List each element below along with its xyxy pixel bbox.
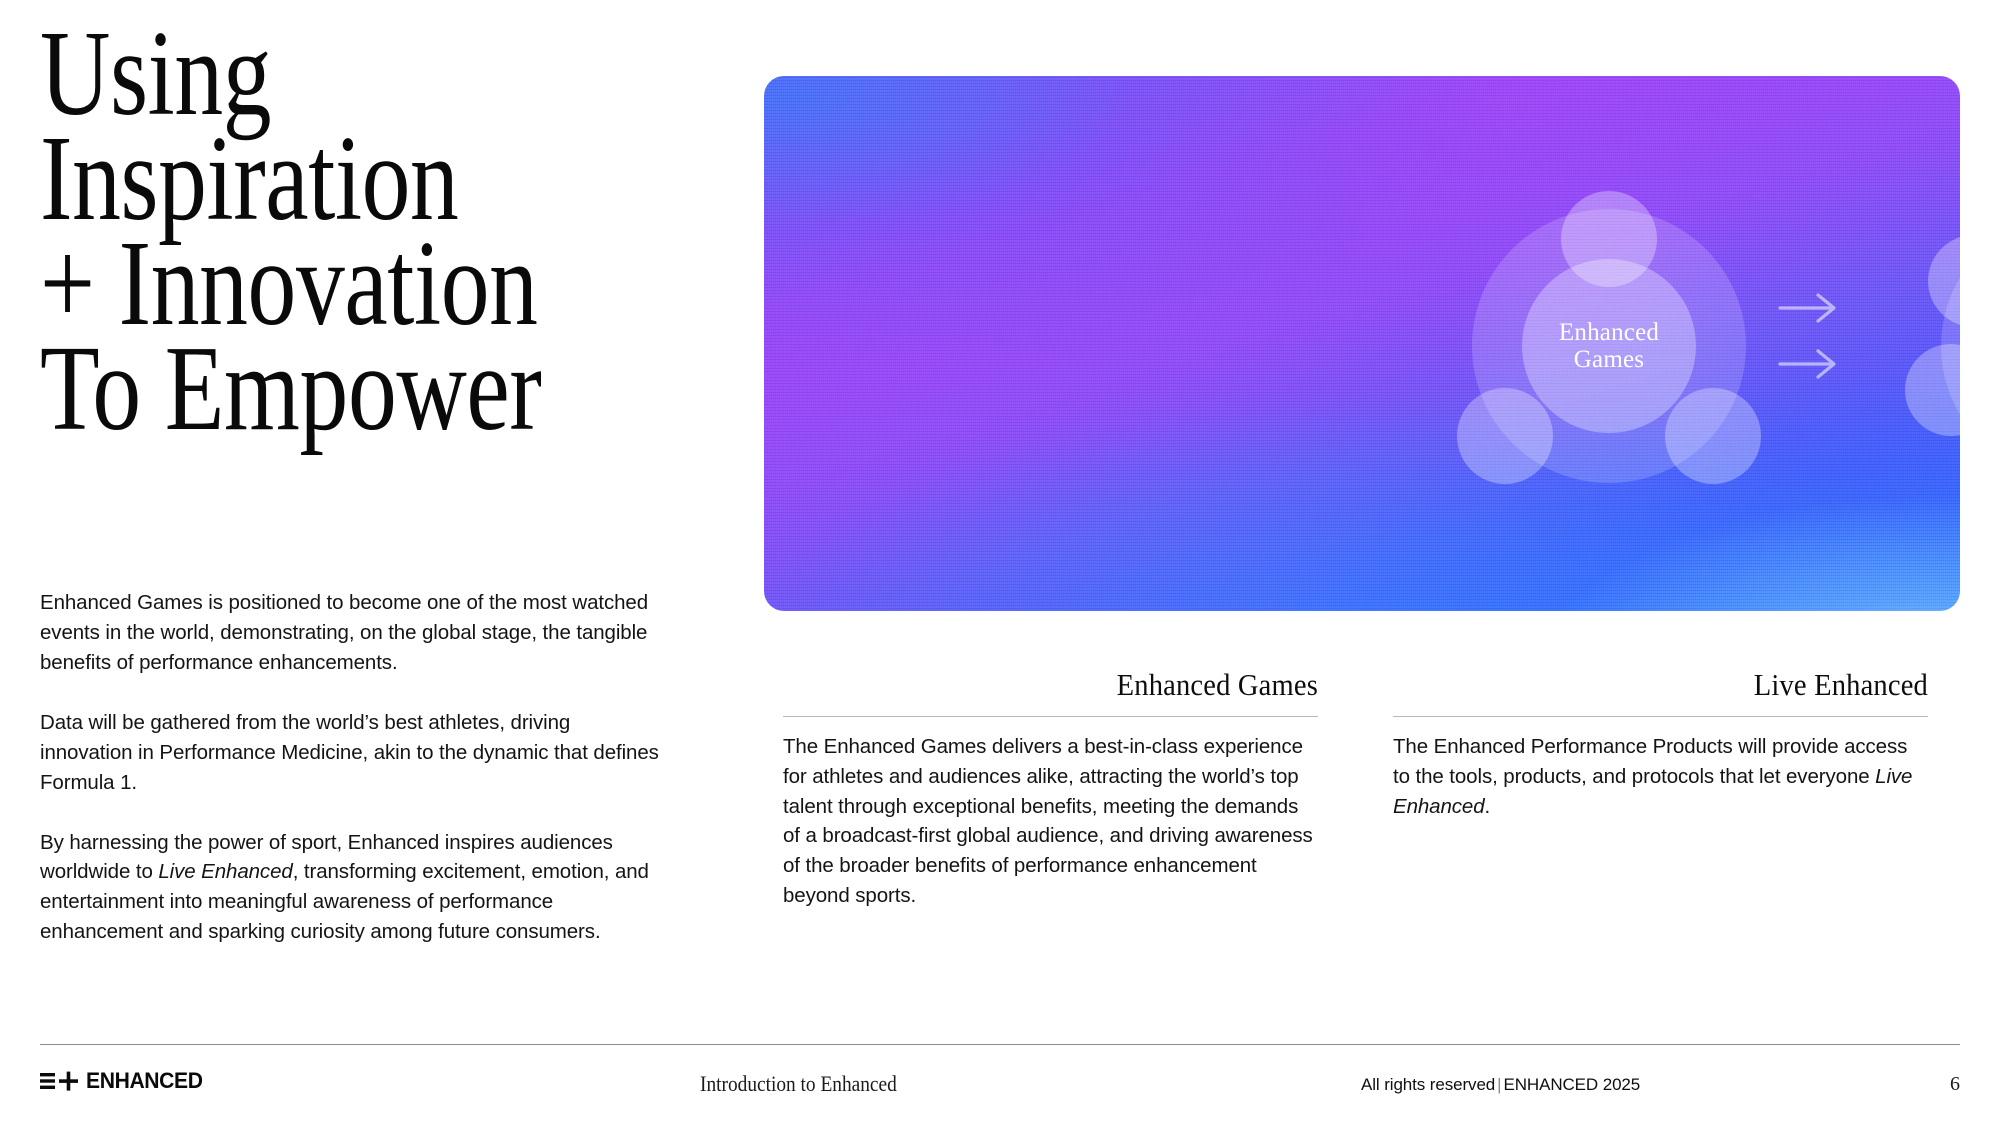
- intro-copy: Enhanced Games is positioned to become o…: [40, 588, 660, 947]
- enhanced-plus-logo-icon: [40, 1070, 80, 1092]
- column-divider: [783, 716, 1318, 717]
- brand-logo-wordmark: ENHANCED: [86, 1068, 203, 1094]
- column-body-part2: .: [1485, 795, 1491, 818]
- live-enhanced-cluster-diagram: Live Enhanced: [1909, 181, 1960, 511]
- transition-arrows: [1778, 291, 1840, 403]
- cluster-node-bottom-right: [1665, 388, 1761, 484]
- arrow-right-icon: [1778, 291, 1840, 325]
- footer-copyright: All rights reserved|ENHANCED 2025: [1361, 1075, 1640, 1095]
- column-divider: [1393, 716, 1928, 717]
- intro-p3-italic: Live Enhanced: [158, 860, 292, 883]
- gradient-graphic-panel: Enhanced Games Live Enhanced: [764, 76, 1960, 611]
- cluster-core-label: Enhanced Games: [1559, 319, 1659, 373]
- enhanced-games-cluster-diagram: Enhanced Games: [1454, 191, 1764, 501]
- cluster-node-4: [1905, 344, 1960, 436]
- column-body: The Enhanced Games delivers a best-in-cl…: [783, 732, 1318, 910]
- arrow-right-icon-2: [1778, 347, 1840, 381]
- column-live-enhanced: Live Enhanced The Enhanced Performance P…: [1393, 668, 1928, 821]
- page-title: Using Inspiration + Innovation To Empowe…: [40, 22, 600, 442]
- cluster-node-2: [1928, 235, 1960, 327]
- column-body-part1: The Enhanced Performance Products will p…: [1393, 735, 1907, 788]
- footer-rights-text: All rights reserved: [1361, 1075, 1495, 1094]
- page-number: 6: [1950, 1073, 1960, 1096]
- cluster-core: Enhanced Games: [1522, 259, 1696, 433]
- intro-paragraph-2: Data will be gathered from the world’s b…: [40, 708, 660, 798]
- column-enhanced-games: Enhanced Games The Enhanced Games delive…: [783, 668, 1318, 910]
- footer-divider: [40, 1044, 1960, 1045]
- headline-line-4: To Empower: [40, 337, 600, 442]
- column-body: The Enhanced Performance Products will p…: [1393, 732, 1928, 821]
- column-title: Enhanced Games: [826, 668, 1318, 702]
- brand-logo: ENHANCED: [40, 1068, 207, 1094]
- intro-paragraph-3: By harnessing the power of sport, Enhanc…: [40, 828, 660, 948]
- slide-root: Using Inspiration + Innovation To Empowe…: [0, 0, 2000, 1125]
- intro-paragraph-1: Enhanced Games is positioned to become o…: [40, 588, 660, 678]
- column-title: Live Enhanced: [1436, 668, 1928, 702]
- cluster-node-bottom-left: [1457, 388, 1553, 484]
- footer-section-label: Introduction to Enhanced: [700, 1071, 897, 1097]
- footer: ENHANCED Introduction to Enhanced All ri…: [0, 1060, 2000, 1120]
- footer-brand-year: ENHANCED 2025: [1503, 1075, 1640, 1094]
